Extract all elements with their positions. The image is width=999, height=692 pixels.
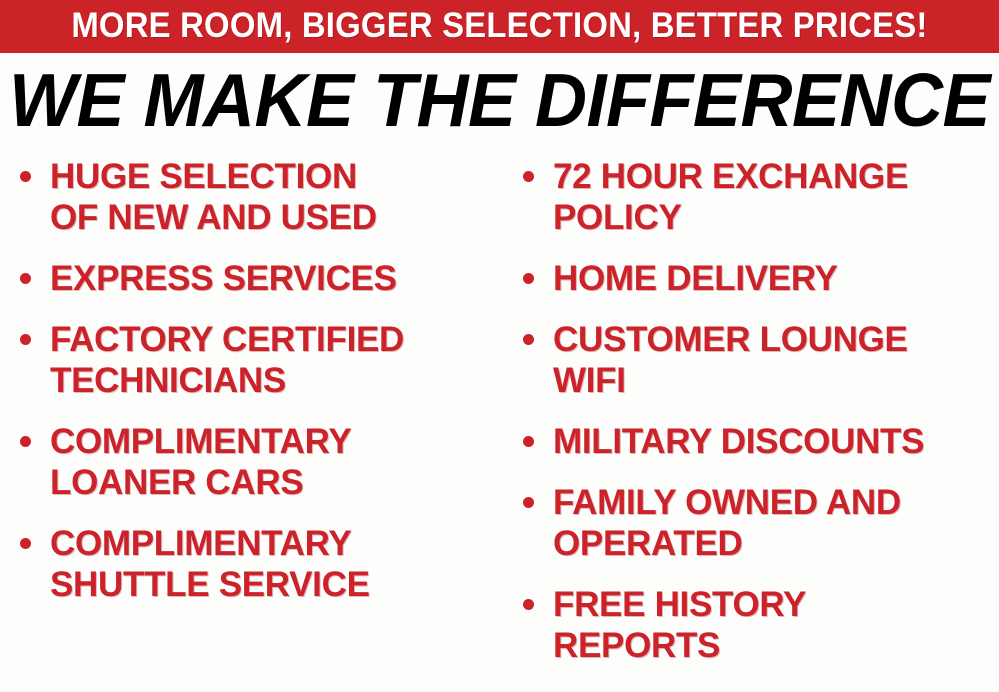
bullet-dot-icon [20,436,31,447]
bullet-dot-icon [20,171,31,182]
list-item-label: FAMILY OWNED AND OPERATED [553,482,999,564]
bullet-dot-icon [20,273,31,284]
list-item-label: FACTORY CERTIFIED TECHNICIANS [50,319,494,401]
bullet-dot-icon [523,171,534,182]
bullet-dot-icon [523,599,534,610]
bullet-dot-icon [20,334,31,345]
list-item-label: MILITARY DISCOUNTS [553,421,999,462]
list-item-label: HUGE SELECTION OF NEW AND USED [50,156,494,238]
bullet-dot-icon [20,538,31,549]
list-item: HOME DELIVERY [517,258,999,299]
list-item: EXPRESS SERVICES [14,258,494,299]
benefits-columns: HUGE SELECTION OF NEW AND USED EXPRESS S… [0,156,999,692]
list-item: COMPLIMENTARY SHUTTLE SERVICE [14,523,494,605]
list-item-label: 72 HOUR EXCHANGE POLICY [553,156,999,238]
list-item: 72 HOUR EXCHANGE POLICY [517,156,999,238]
banner-headline-text: MORE ROOM, BIGGER SELECTION, BETTER PRIC… [71,8,927,45]
list-item-label: CUSTOMER LOUNGE WIFI [553,319,999,401]
list-item: FAMILY OWNED AND OPERATED [517,482,999,564]
list-item: HUGE SELECTION OF NEW AND USED [14,156,494,238]
list-item: CUSTOMER LOUNGE WIFI [517,319,999,401]
page-title-text: WE MAKE THE DIFFERENCE [9,60,990,141]
list-item: MILITARY DISCOUNTS [517,421,999,462]
list-item: FACTORY CERTIFIED TECHNICIANS [14,319,494,401]
benefits-column-right: 72 HOUR EXCHANGE POLICY HOME DELIVERY CU… [517,156,999,679]
list-item-label: HOME DELIVERY [553,258,999,299]
bullet-dot-icon [523,497,534,508]
promo-flyer: MORE ROOM, BIGGER SELECTION, BETTER PRIC… [0,0,999,692]
bullet-dot-icon [523,334,534,345]
list-item-label: EXPRESS SERVICES [50,258,494,299]
list-item-label: FREE HISTORY REPORTS [553,584,999,666]
list-item: COMPLIMENTARY LOANER CARS [14,421,494,503]
page-title: WE MAKE THE DIFFERENCE [0,62,999,140]
list-item-label: COMPLIMENTARY SHUTTLE SERVICE [50,523,494,605]
bullet-dot-icon [523,273,534,284]
benefits-column-left: HUGE SELECTION OF NEW AND USED EXPRESS S… [14,156,494,618]
top-banner: MORE ROOM, BIGGER SELECTION, BETTER PRIC… [0,0,999,53]
list-item: FREE HISTORY REPORTS [517,584,999,666]
bullet-dot-icon [523,436,534,447]
list-item-label: COMPLIMENTARY LOANER CARS [50,421,494,503]
